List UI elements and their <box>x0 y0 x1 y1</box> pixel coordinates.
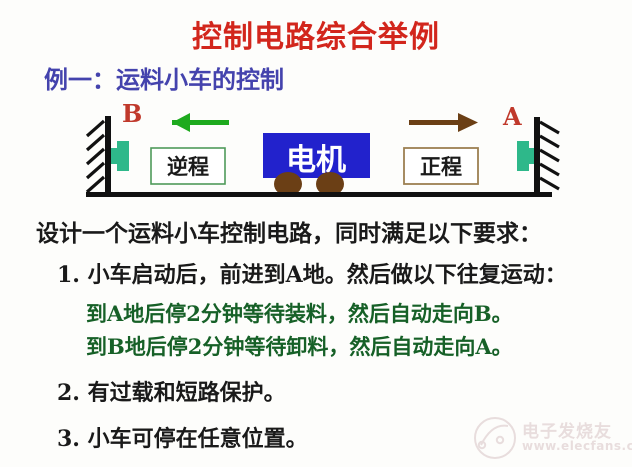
left-limit-switch-icon <box>111 141 129 171</box>
right-position-label: A <box>502 102 522 131</box>
watermark-url: www.elecfans.com <box>522 439 632 453</box>
forward-travel-box: 正程 <box>404 148 478 184</box>
left-wall-post <box>105 116 111 193</box>
reverse-travel-label: 逆程 <box>167 154 209 179</box>
cart-motor: 电机 <box>263 133 370 196</box>
requirement-item-1-sub-a: 到A地后停2分钟等待装料，然后自动走向B。 <box>86 298 513 328</box>
right-wall-post <box>534 117 540 193</box>
reverse-travel-box: 逆程 <box>151 148 225 184</box>
left-position-label: B <box>122 100 142 128</box>
watermark-brand: 电子发烧友 <box>522 417 612 442</box>
example-subtitle: 例一：运料小车的控制 <box>44 60 284 95</box>
page-title: 控制电路综合举例 <box>0 12 632 56</box>
right-wall-hatching <box>540 122 559 189</box>
forward-travel-arrow-icon <box>409 113 478 132</box>
requirement-item-3: 3. 小车可停在任意位置。 <box>57 421 308 453</box>
requirements-intro: 设计一个运料小车控制电路，同时满足以下要求： <box>36 214 542 248</box>
requirement-item-1: 1. 小车启动后，前进到A地。然后做以下往复运动： <box>57 257 567 289</box>
watermark-logo-icon <box>470 415 520 461</box>
motor-label: 电机 <box>286 143 346 178</box>
ground-line <box>86 192 552 197</box>
requirement-item-1-sub-b: 到B地后停2分钟等待卸料，然后自动走向A。 <box>86 331 513 361</box>
forward-travel-label: 正程 <box>420 154 462 179</box>
site-watermark: 电子发烧友 www.elecfans.com <box>470 415 626 463</box>
slide-canvas: 控制电路综合举例 例一：运料小车的控制 B 逆程 <box>0 0 632 467</box>
material-cart-control-diagram: B 逆程 电机 正程 A <box>0 100 632 200</box>
right-limit-switch-icon <box>517 141 535 171</box>
requirement-item-2: 2. 有过载和短路保护。 <box>57 375 286 407</box>
left-wall-hatching <box>87 121 104 192</box>
reverse-travel-arrow-icon <box>172 113 229 132</box>
